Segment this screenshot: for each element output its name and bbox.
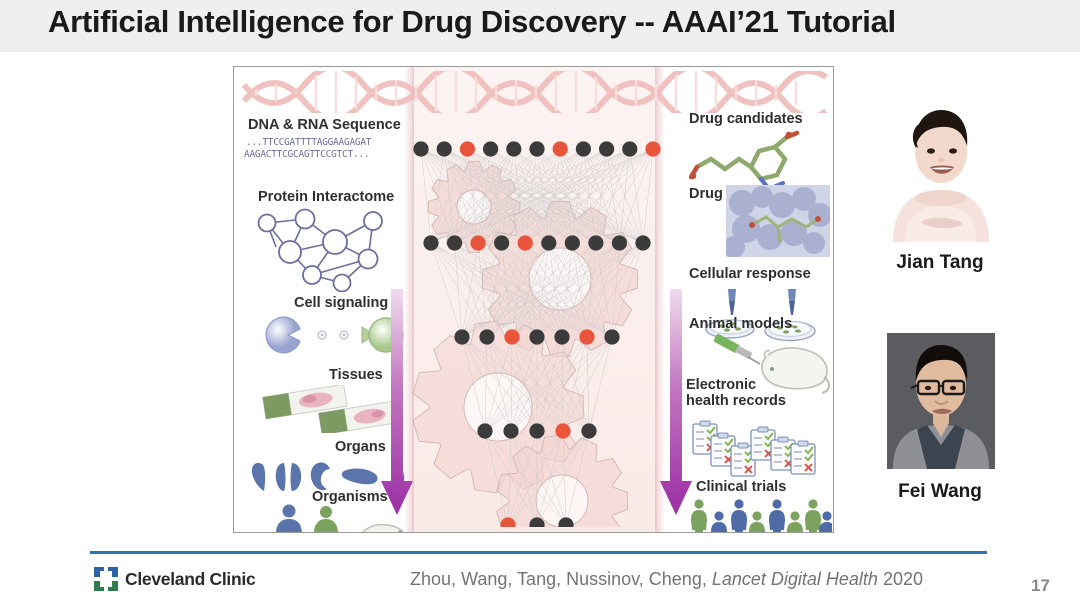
cleveland-clinic-logo: [93, 566, 119, 592]
label-organs: Organs: [335, 439, 386, 455]
protein-network-icon: [250, 207, 410, 292]
label-dna-rna-sequence: DNA & RNA Sequence: [248, 117, 401, 133]
speaker-name-fei-wang: Fei Wang: [861, 481, 1019, 503]
label-drug-candidates: Drug candidates: [689, 111, 803, 127]
citation-text: Zhou, Wang, Tang, Nussinov, Cheng, Lance…: [410, 569, 923, 590]
left-flow-arrow-icon: [380, 289, 414, 519]
neural-network-gears-diagram: [412, 107, 662, 527]
footer-divider: [90, 551, 987, 554]
speaker-card-fei-wang: Fei Wang: [861, 333, 1019, 513]
brand-name: Cleveland Clinic: [125, 569, 255, 590]
citation-year: 2020: [878, 569, 923, 589]
dna-sequence-line-2: AAGACTTCGCAGTTCCGTCT...: [244, 149, 369, 162]
speaker-name-jian-tang: Jian Tang: [861, 252, 1019, 274]
clipboard-records-icon: [689, 415, 824, 477]
protein-pocket-icon: [726, 185, 830, 257]
label-protein-interactome: Protein Interactome: [258, 189, 394, 205]
figure-panel: DNA & RNA Sequence ...TTCCGATTTTAGGAAGAG…: [233, 66, 834, 533]
label-clinical-trials: Clinical trials: [696, 479, 786, 495]
label-tissues: Tissues: [329, 367, 383, 383]
label-cellular-response: Cellular response: [689, 266, 811, 282]
label-animal-models: Animal models: [689, 316, 792, 332]
people-group-icon: [684, 497, 832, 533]
citation-authors: Zhou, Wang, Tang, Nussinov, Cheng,: [410, 569, 712, 589]
fei-wang-portrait: [887, 333, 995, 469]
right-flow-arrow-icon: [659, 289, 693, 519]
citation-journal: Lancet Digital Health: [712, 569, 878, 589]
page-number: 17: [1031, 576, 1050, 596]
page-title: Artificial Intelligence for Drug Discove…: [48, 4, 896, 40]
slide-title-bar: Artificial Intelligence for Drug Discove…: [0, 0, 1080, 52]
label-electronic-health-records: Electronic health records: [686, 377, 796, 409]
label-cell-signaling: Cell signaling: [294, 295, 388, 311]
jian-tang-portrait: [875, 94, 1007, 242]
speaker-card-jian-tang: Jian Tang: [861, 94, 1019, 276]
dna-sequence-line-1: ...TTCCGATTTTAGGAAGAGAT: [246, 137, 371, 150]
